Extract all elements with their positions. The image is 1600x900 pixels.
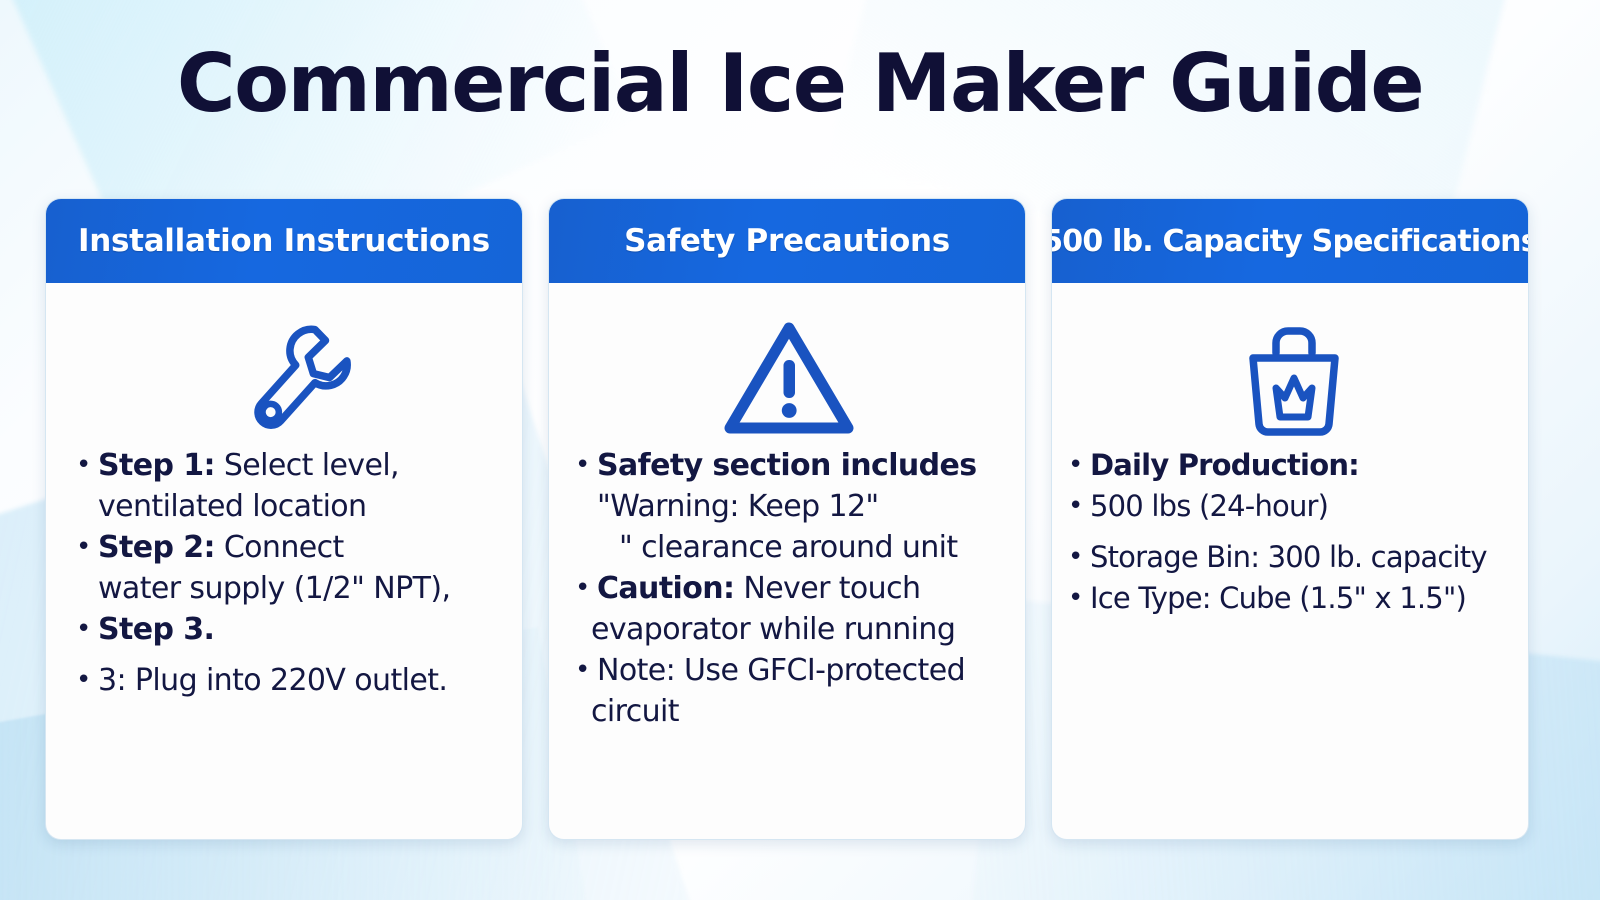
- bullet-list-safety: • Safety section includes "Warning: Keep…: [575, 445, 1003, 819]
- card-body-capacity: • Daily Production: • 500 lbs (24-hour) …: [1052, 283, 1528, 839]
- bullet-glyph: •: [76, 527, 98, 568]
- bullet-glyph: •: [76, 660, 98, 701]
- bullet-lead: Step 3.: [98, 612, 214, 647]
- bullet-glyph: •: [1068, 578, 1090, 619]
- list-item: • Ice Type: Cube (1.5" x 1.5"): [1068, 578, 1520, 619]
- bullet-list-installation: • Step 1: Select level, ventilated locat…: [76, 445, 500, 819]
- bullet-list-capacity: • Daily Production: • 500 lbs (24-hour) …: [1068, 445, 1520, 819]
- bullet-text: Step 2: Connect: [98, 527, 500, 568]
- warning-triangle-icon: [575, 311, 1003, 445]
- card-safety-precautions: Safety Precautions • Safety section incl…: [548, 198, 1026, 840]
- bullet-glyph: •: [1068, 486, 1090, 527]
- bullet-rest: Connect: [215, 530, 344, 565]
- card-header-capacity: 500 lb. Capacity Specifications: [1052, 199, 1528, 283]
- card-title-capacity: 500 lb. Capacity Specifications: [1051, 224, 1529, 259]
- card-header-safety: Safety Precautions: [549, 199, 1025, 283]
- bullet-continuation: evaporator while running: [575, 609, 1003, 650]
- bullet-continuation: circuit: [575, 691, 1003, 732]
- card-title-safety: Safety Precautions: [624, 223, 950, 259]
- bullet-glyph: •: [1068, 537, 1090, 578]
- card-header-installation: Installation Instructions: [46, 199, 522, 283]
- bullet-text: Storage Bin: 300 lb. capacity: [1090, 537, 1520, 578]
- card-installation-instructions: Installation Instructions • Step 1: Sele…: [45, 198, 523, 840]
- bullet-lead: Safety section includes: [597, 445, 1003, 486]
- list-item: • 500 lbs (24-hour): [1068, 486, 1520, 527]
- bullet-text: Caution: Never touch: [597, 568, 1003, 609]
- bullet-glyph: •: [575, 650, 597, 691]
- bullet-text: Ice Type: Cube (1.5" x 1.5"): [1090, 578, 1520, 619]
- list-item: • Step 3.: [76, 609, 500, 650]
- bullet-continuation: "Warning: Keep 12": [575, 486, 1003, 527]
- card-body-installation: • Step 1: Select level, ventilated locat…: [46, 283, 522, 839]
- list-item: • Safety section includes: [575, 445, 1003, 486]
- bullet-glyph: •: [575, 445, 597, 486]
- bullet-text: Step 3.: [98, 609, 500, 650]
- wrench-icon: [76, 311, 500, 445]
- card-grid: Installation Instructions • Step 1: Sele…: [45, 198, 1529, 840]
- bullet-text: Note: Use GFCI-protected: [597, 650, 1003, 691]
- list-item: • 3: Plug into 220V outlet.: [76, 660, 500, 701]
- bullet-glyph: •: [1068, 445, 1090, 486]
- bullet-glyph: •: [76, 445, 98, 486]
- poster-root: Commercial Ice Maker Guide Installation …: [0, 0, 1600, 900]
- list-item: • Storage Bin: 300 lb. capacity: [1068, 537, 1520, 578]
- list-item: • Note: Use GFCI-protected: [575, 650, 1003, 691]
- list-item: • Caution: Never touch: [575, 568, 1003, 609]
- list-item: • Step 2: Connect: [76, 527, 500, 568]
- bullet-glyph: •: [76, 609, 98, 650]
- card-title-installation: Installation Instructions: [78, 223, 490, 259]
- bullet-text: 500 lbs (24-hour): [1090, 486, 1520, 527]
- bullet-continuation-2: " clearance around unit: [575, 527, 1003, 568]
- bullet-lead: Step 2:: [98, 530, 215, 565]
- list-item: • Step 1: Select level,: [76, 445, 500, 486]
- bullet-lead: Caution:: [597, 571, 734, 606]
- bullet-continuation: ventilated location: [76, 486, 500, 527]
- bullet-lead: Daily Production:: [1090, 445, 1520, 486]
- bullet-text: 3: Plug into 220V outlet.: [98, 660, 500, 701]
- bullet-lead: Step 1:: [98, 448, 215, 483]
- card-capacity-specifications: 500 lb. Capacity Specifications • Daily …: [1051, 198, 1529, 840]
- bullet-text: Step 1: Select level,: [98, 445, 500, 486]
- bullet-rest: Never touch: [734, 571, 920, 606]
- list-item: • Daily Production:: [1068, 445, 1520, 486]
- bullet-rest: Select level,: [215, 448, 399, 483]
- page-title: Commercial Ice Maker Guide: [0, 36, 1600, 132]
- storage-bin-crown-icon: [1068, 311, 1520, 445]
- bullet-continuation: water supply (1/2" NPT),: [76, 568, 500, 609]
- bullet-glyph: •: [575, 568, 597, 609]
- card-body-safety: • Safety section includes "Warning: Keep…: [549, 283, 1025, 839]
